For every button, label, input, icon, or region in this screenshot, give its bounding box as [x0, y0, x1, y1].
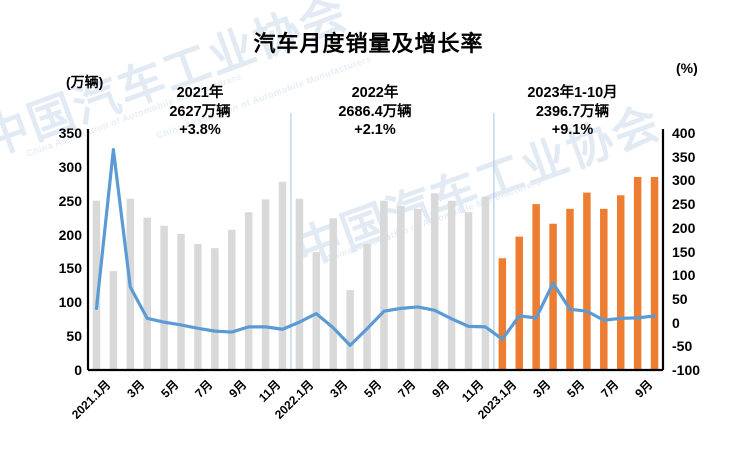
y-tick-right-200: 200	[672, 220, 732, 236]
bar-9月	[228, 230, 236, 370]
y-tick-right-0: 0	[672, 315, 732, 331]
bar-4月	[143, 218, 151, 370]
bar-2月	[516, 237, 524, 370]
bar-2023.1月	[499, 258, 507, 370]
y-tick-right-250: 250	[672, 196, 732, 212]
bar-10月	[448, 201, 456, 370]
bar-7月	[600, 209, 608, 370]
y-tick-right-150: 150	[672, 244, 732, 260]
y-tick-right-100: 100	[672, 267, 732, 283]
y-tick-right--50: -50	[672, 338, 732, 354]
y-tick-right-50: 50	[672, 291, 732, 307]
bar-10月	[245, 212, 253, 370]
bar-8月	[211, 248, 219, 370]
bar-2月	[313, 252, 321, 370]
y-tick-right-300: 300	[672, 172, 732, 188]
y-tick-left-50: 50	[30, 328, 82, 344]
y-tick-left-0: 0	[30, 362, 82, 378]
bar-7月	[194, 244, 202, 370]
bar-7月	[397, 206, 405, 370]
bar-11月	[465, 212, 473, 370]
bar-11月	[262, 199, 270, 370]
bar-5月	[566, 209, 574, 370]
bar-2022.1月	[296, 199, 304, 370]
bar-8月	[414, 209, 422, 370]
bar-4月	[549, 224, 557, 370]
bar-3月	[532, 204, 540, 370]
bar-5月	[160, 226, 168, 370]
bar-6月	[583, 193, 591, 370]
bar-10月	[651, 177, 659, 370]
bar-9月	[634, 177, 642, 370]
y-tick-left-250: 250	[30, 193, 82, 209]
bar-6月	[177, 234, 185, 370]
bar-2月	[110, 271, 118, 370]
y-tick-left-300: 300	[30, 159, 82, 175]
bar-8月	[617, 195, 625, 370]
y-tick-right-400: 400	[672, 125, 732, 141]
chart-container: 中国汽车工业协会 中国汽车工业协会 China Association of A…	[0, 0, 737, 461]
y-tick-left-100: 100	[30, 294, 82, 310]
bar-4月	[346, 290, 354, 370]
bar-12月	[279, 182, 287, 370]
bar-12月	[482, 197, 490, 370]
y-tick-left-200: 200	[30, 227, 82, 243]
bar-9月	[431, 193, 439, 370]
bar-6月	[380, 201, 388, 370]
y-tick-right--100: -100	[672, 362, 732, 378]
y-tick-left-150: 150	[30, 260, 82, 276]
y-tick-left-350: 350	[30, 125, 82, 141]
y-tick-right-350: 350	[672, 149, 732, 165]
bar-5月	[363, 244, 371, 370]
bar-3月	[329, 218, 337, 370]
